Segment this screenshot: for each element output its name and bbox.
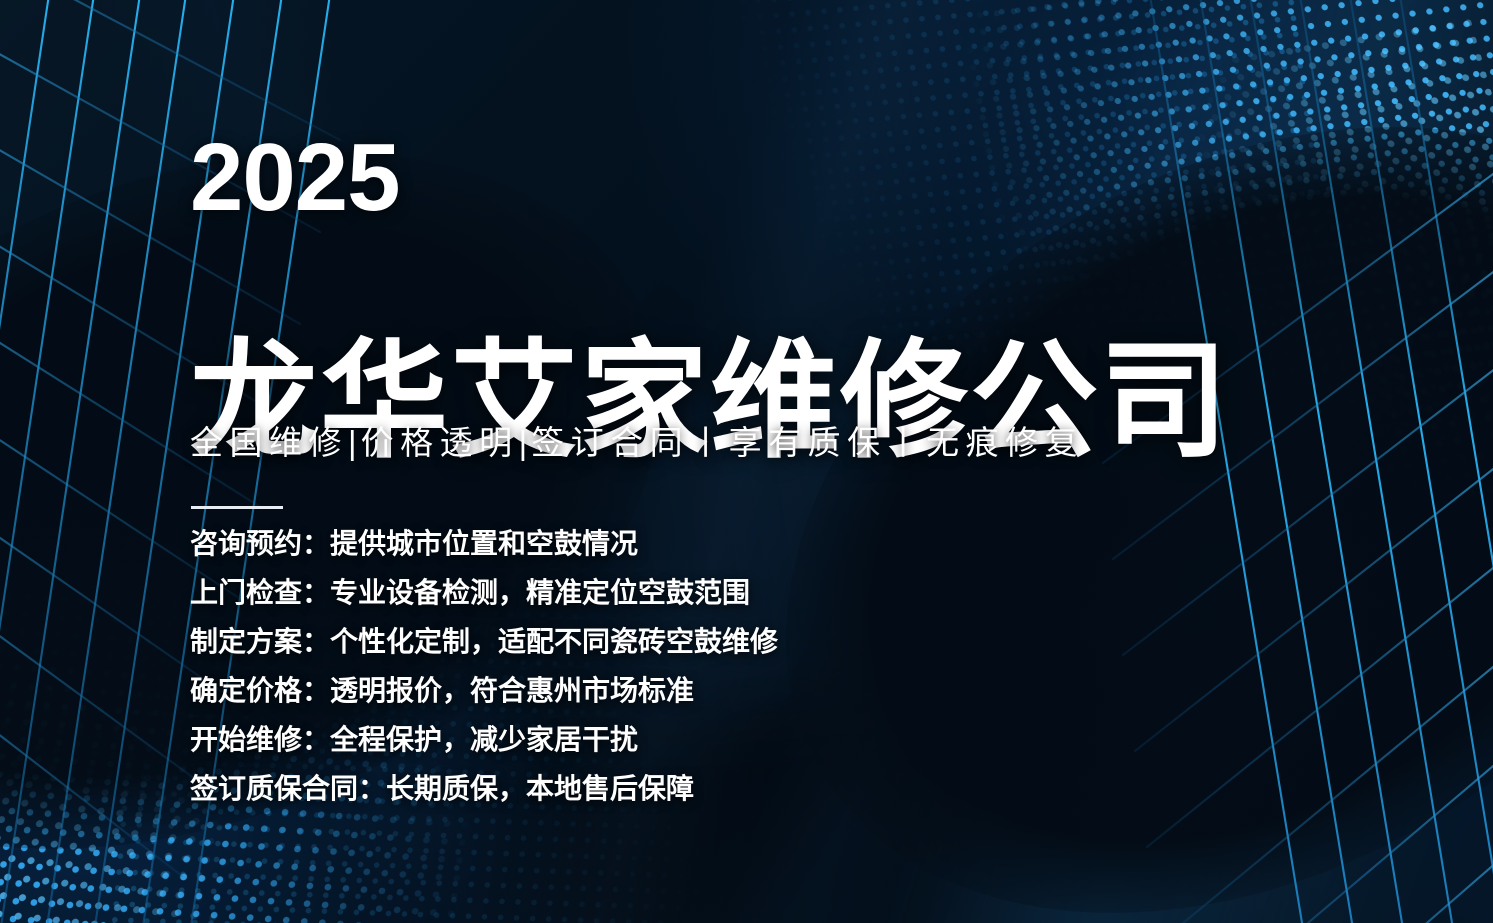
list-item: 咨询预约：提供城市位置和空鼓情况 <box>190 530 778 558</box>
tagline-5: 无痕修复 <box>926 424 1084 461</box>
content-block: 2025 龙华艾家维修公司 全国维修|价格透明|签订合同丨享有质保丨无痕修复 咨… <box>190 0 1310 923</box>
tagline-separator-4: 丨 <box>887 424 927 461</box>
tagline-4: 享有质保 <box>729 424 887 461</box>
poster-canvas: 2025 龙华艾家维修公司 全国维修|价格透明|签订合同丨享有质保丨无痕修复 咨… <box>0 0 1493 923</box>
tagline-3: 签订合同 <box>531 424 689 461</box>
tagline-separator-3: 丨 <box>689 424 729 461</box>
tagline-separator-1: | <box>348 424 361 461</box>
list-item: 签订质保合同：长期质保，本地售后保障 <box>190 775 778 803</box>
section-divider <box>191 506 283 509</box>
process-steps-list: 咨询预约：提供城市位置和空鼓情况 上门检查：专业设备检测，精准定位空鼓范围 制定… <box>190 530 778 803</box>
year-label: 2025 <box>190 130 400 226</box>
tagline-separator-2: | <box>519 424 532 461</box>
list-item: 制定方案：个性化定制，适配不同瓷砖空鼓维修 <box>190 628 778 656</box>
list-item: 上门检查：专业设备检测，精准定位空鼓范围 <box>190 579 778 607</box>
tagline-2: 价格透明 <box>361 424 519 461</box>
list-item: 确定价格：透明报价，符合惠州市场标准 <box>190 677 778 705</box>
list-item: 开始维修：全程保护，减少家居干扰 <box>190 726 778 754</box>
subtitle-taglines: 全国维修|价格透明|签订合同丨享有质保丨无痕修复 <box>190 422 1084 463</box>
tagline-1: 全国维修 <box>190 424 348 461</box>
